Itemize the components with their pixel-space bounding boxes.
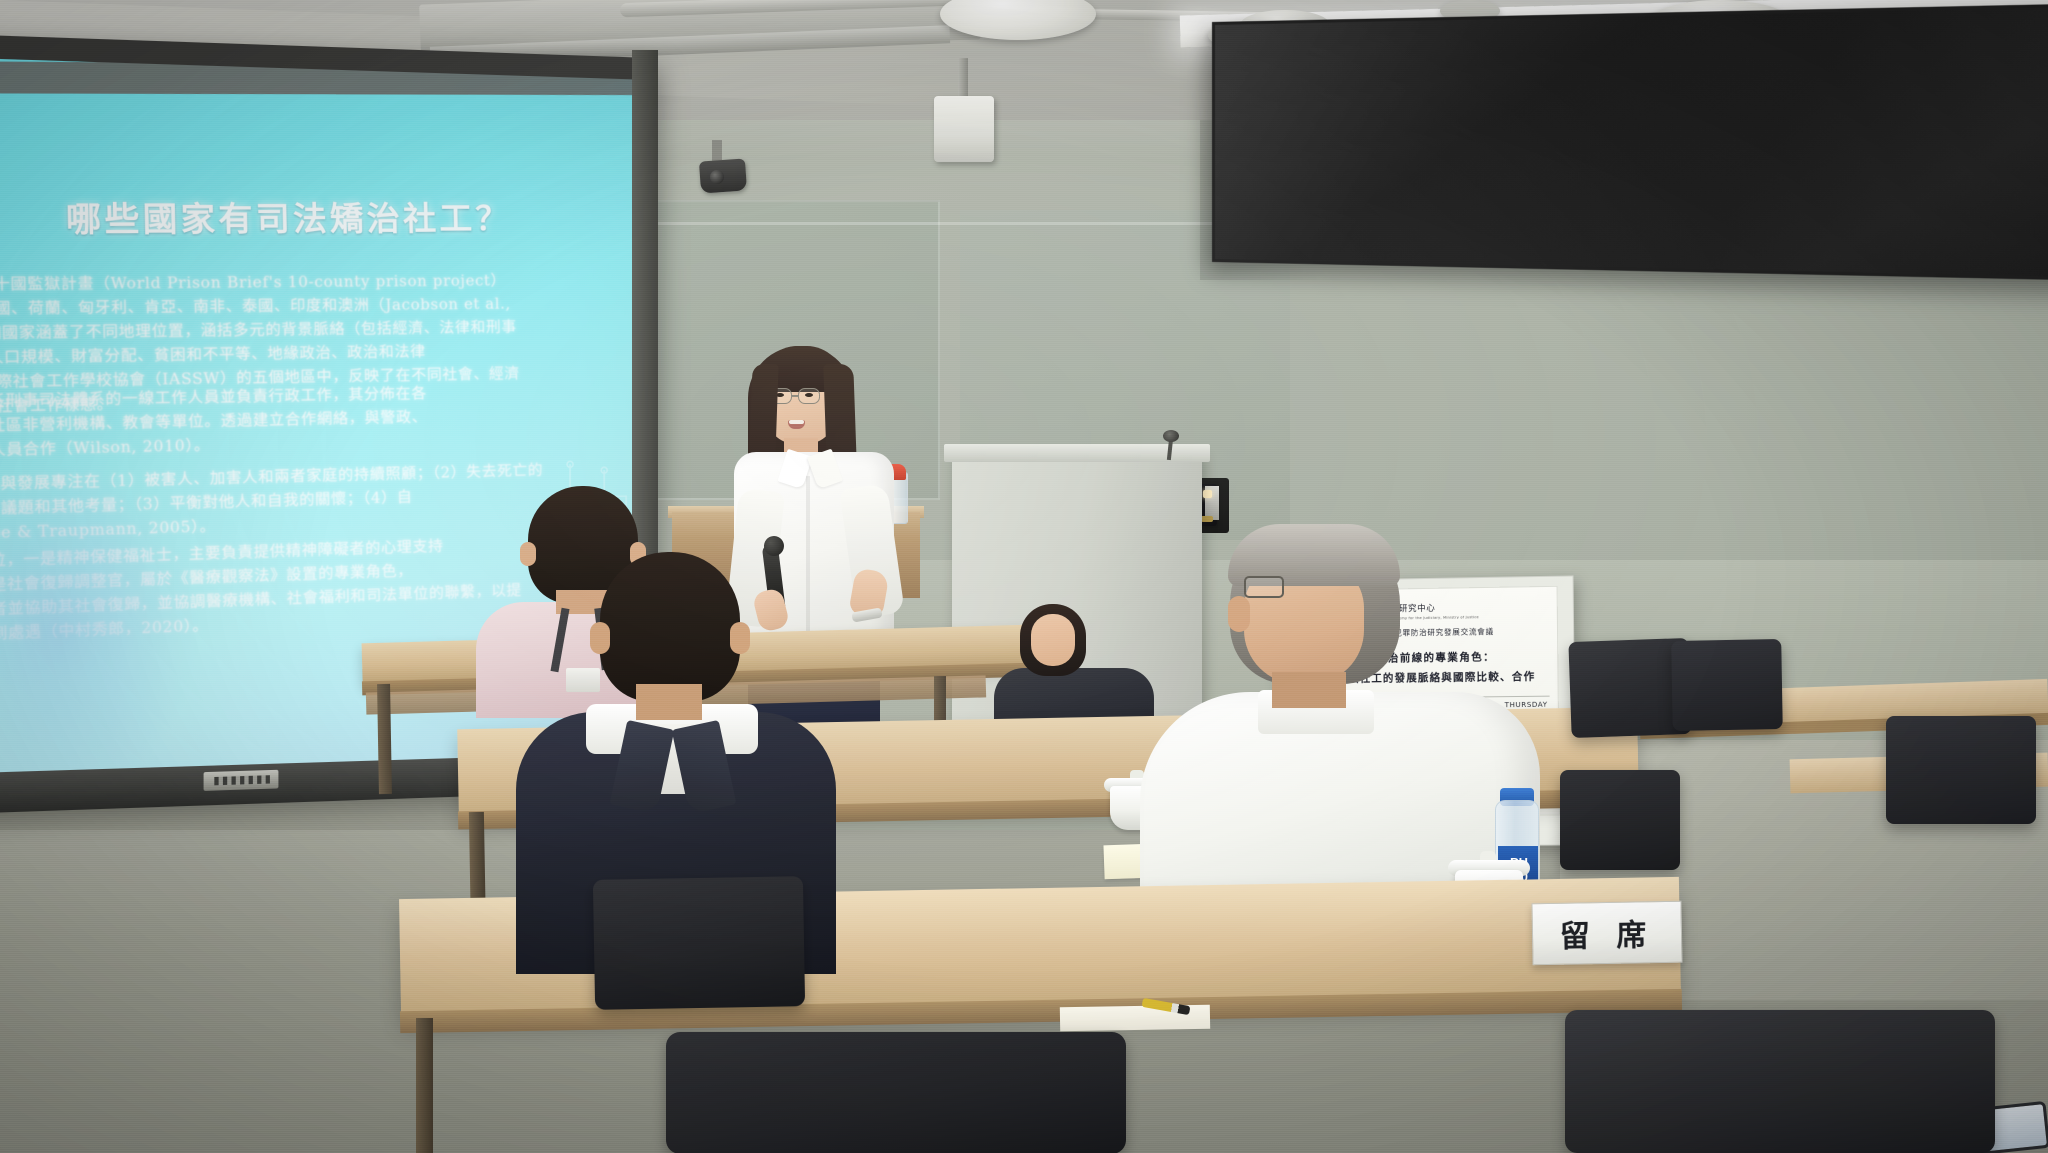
slide-title: 哪些國家有司法矯治社工？ (0, 193, 612, 242)
slide-paragraph-2: 荷蘭模式：擔任刑事司法體系的一線工作人員並負責行政工作，其分佈在各 、法院系統、… (0, 380, 633, 467)
attendee-suit-neck (636, 684, 702, 720)
attendee-grey-ear (1228, 596, 1250, 632)
presenter-teeth (789, 420, 804, 424)
chair-left-front[interactable] (593, 876, 805, 1010)
screen-glow (0, 462, 201, 780)
table-foreground-leg (416, 1018, 433, 1153)
reserved-seat-placard-right: 留 席 (1531, 901, 1682, 966)
presenter-eye-right (805, 393, 813, 397)
panel-led-row-2 (1201, 516, 1213, 522)
attendee-back-right-face (1031, 614, 1075, 666)
pendant-rod (958, 58, 968, 100)
tv-screen-glare (1215, 5, 2048, 279)
reserved-seat-placard-right-text: 留 席 (1559, 910, 1654, 956)
attendee-grey-neck (1272, 672, 1346, 708)
wall-mounted-tv[interactable] (1212, 1, 2048, 282)
conference-room-photo: 哪些國家有司法矯治社工？ 界監獄報告——十國監獄計畫（World Prison … (0, 0, 2048, 1153)
table-back-leg-left (377, 684, 392, 794)
attendee-suit-ear-right (730, 622, 750, 654)
chair-right-3[interactable] (1560, 770, 1680, 870)
chair-foreground[interactable] (666, 1032, 1126, 1153)
lectern-microphone-icon (1163, 430, 1179, 442)
chair-right-foreground[interactable] (1565, 1010, 1995, 1153)
ceiling-pendant-speaker (934, 96, 994, 162)
chair-right-2[interactable] (1671, 639, 1783, 731)
attendee-suit-head (600, 552, 740, 702)
camera-lens-icon (710, 170, 724, 184)
attendee-suit-ear-left (590, 622, 610, 654)
panel-led-white (1203, 490, 1212, 498)
attendee-grey-glasses (1244, 576, 1284, 598)
attendee-back-right (990, 604, 1160, 734)
chair-right-4[interactable] (1886, 716, 2036, 824)
presenter-glasses-bridge (792, 395, 799, 397)
